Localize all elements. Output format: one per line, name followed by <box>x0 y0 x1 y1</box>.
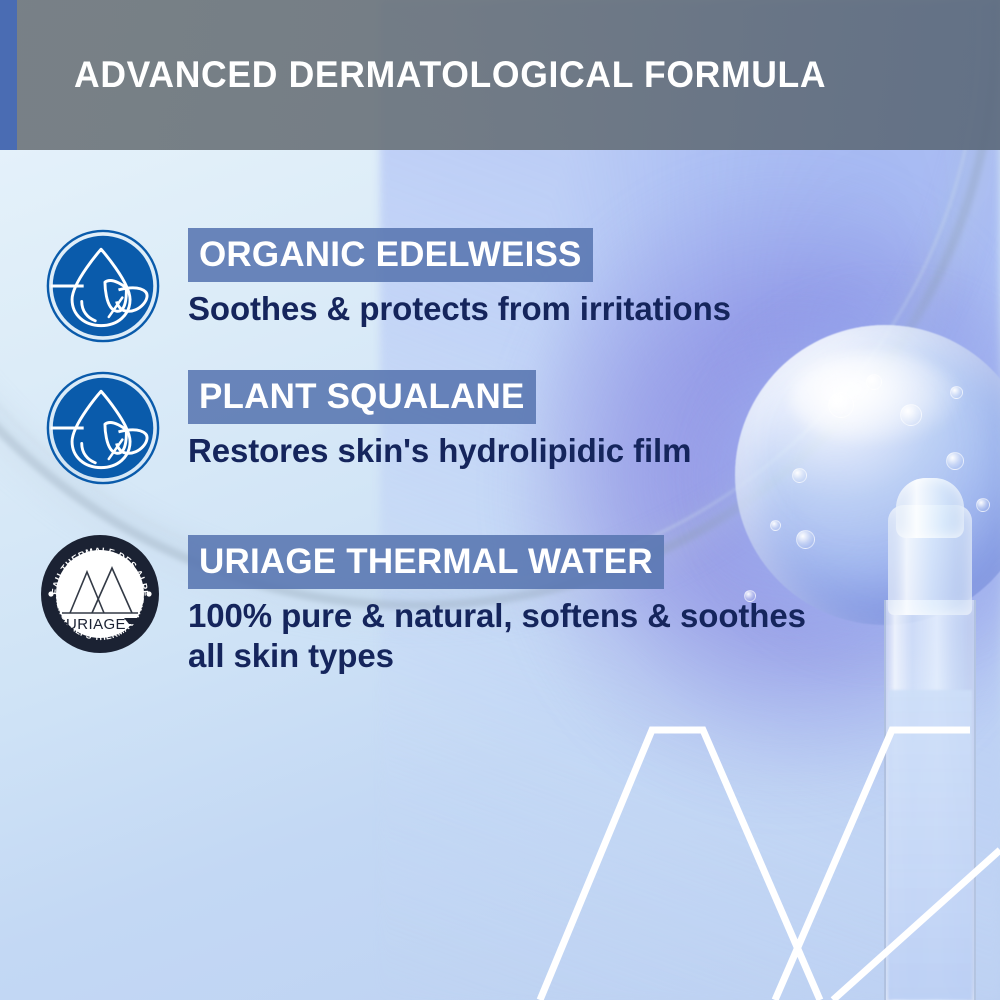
ampoule-tip <box>896 478 964 538</box>
bubble <box>828 392 854 418</box>
bubble <box>866 374 882 390</box>
bubble <box>950 386 963 399</box>
page-title: ADVANCED DERMATOLOGICAL FORMULA <box>74 54 826 96</box>
feature-1-text: ORGANIC EDELWEISS Soothes & protects fro… <box>188 228 731 329</box>
bubble <box>946 452 964 470</box>
bubble <box>900 404 922 426</box>
header-accent-stripe <box>0 0 17 150</box>
feature-3-subtitle: 100% pure & natural, softens & soothes a… <box>188 596 806 675</box>
bubble <box>770 520 781 531</box>
bubble <box>792 468 807 483</box>
seal-wordmark: URIAGE <box>66 616 126 633</box>
header-bar: ADVANCED DERMATOLOGICAL FORMULA <box>0 0 1000 150</box>
feature-2-subtitle: Restores skin's hydrolipidic film <box>188 431 691 471</box>
feature-3-text: URIAGE THERMAL WATER 100% pure & natural… <box>188 535 806 675</box>
product-feature-banner: ADVANCED DERMATOLOGICAL FORMULA ORGANIC … <box>0 0 1000 1000</box>
water-drop-leaf-icon <box>45 228 161 344</box>
feature-1-subtitle: Soothes & protects from irritations <box>188 289 731 329</box>
uriage-thermal-water-seal-icon: L'EAU THERMALE DES ALPES FRENCH ALPS THE… <box>40 534 160 654</box>
mountain-motif-icon <box>500 640 1000 1000</box>
water-drop-leaf-icon <box>45 370 161 486</box>
feature-2-heading: PLANT SQUALANE <box>188 370 536 424</box>
feature-1-heading: ORGANIC EDELWEISS <box>188 228 593 282</box>
bubble <box>976 498 990 512</box>
feature-3-icon-wrap: L'EAU THERMALE DES ALPES FRENCH ALPS THE… <box>40 534 164 658</box>
water-sphere-highlight <box>790 352 960 444</box>
feature-2-text: PLANT SQUALANE Restores skin's hydrolipi… <box>188 370 691 471</box>
feature-3-heading: URIAGE THERMAL WATER <box>188 535 664 589</box>
feature-2-icon-wrap <box>45 370 163 488</box>
feature-1-icon-wrap <box>45 228 163 346</box>
